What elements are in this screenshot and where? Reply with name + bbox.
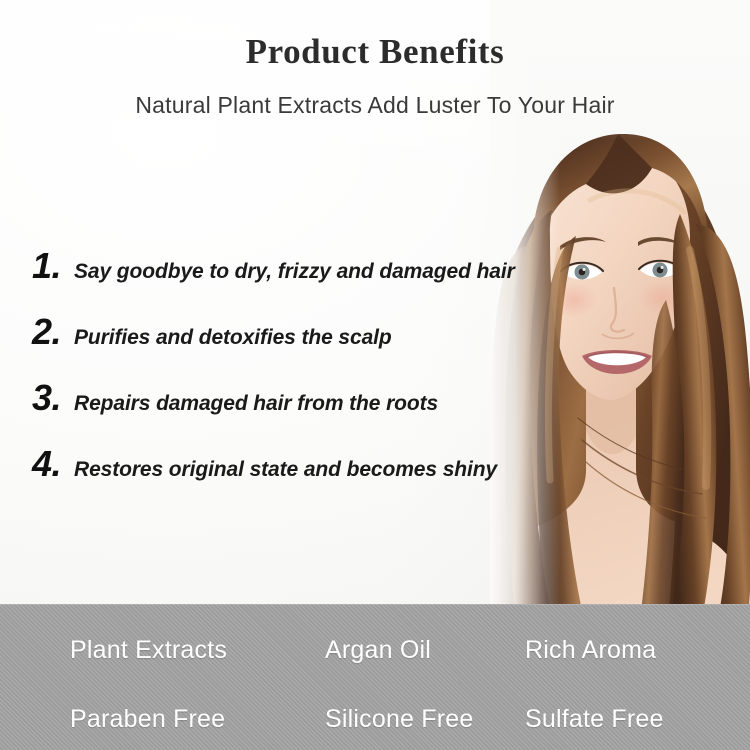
list-item-number: 4.	[32, 446, 74, 482]
feature-label-sulfate-free: Sulfate Free	[525, 705, 710, 734]
header: Product Benefits Natural Plant Extracts …	[0, 30, 750, 120]
feature-label-rich-aroma: Rich Aroma	[525, 636, 710, 665]
feature-label-paraben-free: Paraben Free	[70, 705, 325, 734]
list-item: 2. Purifies and detoxifies the scalp	[32, 314, 562, 380]
list-item: 4. Restores original state and becomes s…	[32, 446, 562, 512]
product-benefits-graphic: Product Benefits Natural Plant Extracts …	[0, 0, 750, 750]
feature-banner-grid: Plant Extracts Argan Oil Rich Aroma Para…	[70, 616, 710, 750]
list-item-number: 2.	[32, 314, 74, 350]
list-item-label: Purifies and detoxifies the scalp	[74, 326, 392, 350]
list-item-number: 1.	[32, 248, 74, 284]
page-title: Product Benefits	[0, 30, 750, 74]
feature-label-argan-oil: Argan Oil	[325, 636, 525, 665]
page-subtitle: Natural Plant Extracts Add Luster To You…	[0, 90, 750, 120]
list-item-label: Restores original state and becomes shin…	[74, 458, 497, 482]
list-item: 1. Say goodbye to dry, frizzy and damage…	[32, 248, 562, 314]
list-item-label: Repairs damaged hair from the roots	[74, 392, 438, 416]
list-item: 3. Repairs damaged hair from the roots	[32, 380, 562, 446]
feature-label-plant-extracts: Plant Extracts	[70, 636, 325, 665]
benefits-list: 1. Say goodbye to dry, frizzy and damage…	[32, 248, 562, 512]
list-item-label: Say goodbye to dry, frizzy and damaged h…	[74, 260, 515, 284]
list-item-number: 3.	[32, 380, 74, 416]
feature-banner: Plant Extracts Argan Oil Rich Aroma Para…	[0, 604, 750, 750]
feature-label-silicone-free: Silicone Free	[325, 705, 525, 734]
